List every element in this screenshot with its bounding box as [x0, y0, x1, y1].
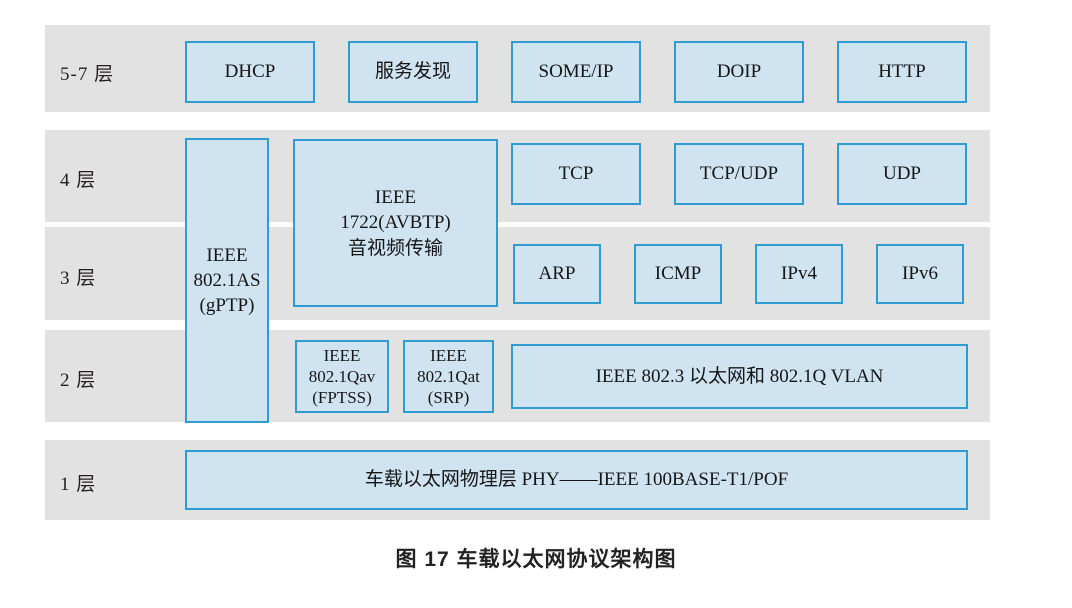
- layer-label-4: 4 层: [60, 165, 170, 192]
- protocol-box-gptp[interactable]: IEEE 802.1AS (gPTP): [185, 138, 269, 423]
- protocol-box-qav[interactable]: IEEE 802.1Qav (FPTSS): [295, 340, 389, 413]
- protocol-box-qav-label: IEEE 802.1Qav (FPTSS): [301, 345, 383, 409]
- protocol-box-qat[interactable]: IEEE 802.1Qat (SRP): [403, 340, 494, 413]
- protocol-box-avbtp[interactable]: IEEE 1722(AVBTP) 音视频传输: [293, 139, 498, 307]
- layer-label-1: 1 层: [60, 469, 170, 496]
- protocol-box-qat-label: IEEE 802.1Qat (SRP): [409, 345, 488, 409]
- protocol-box-service-discovery[interactable]: 服务发现: [348, 41, 478, 103]
- protocol-box-http-label: HTTP: [843, 59, 961, 84]
- protocol-stack-diagram: 5-7 层 4 层 3 层 2 层 1 层 DHCP 服务发现 SOME/IP …: [0, 0, 1072, 608]
- protocol-box-tcp-udp[interactable]: TCP/UDP: [674, 143, 804, 205]
- protocol-box-udp[interactable]: UDP: [837, 143, 967, 205]
- protocol-box-icmp-label: ICMP: [640, 261, 716, 286]
- protocol-box-dhcp-label: DHCP: [191, 59, 309, 84]
- protocol-box-ethernet-vlan[interactable]: IEEE 802.3 以太网和 802.1Q VLAN: [511, 344, 968, 409]
- protocol-box-dhcp[interactable]: DHCP: [185, 41, 315, 103]
- protocol-box-avbtp-label: IEEE 1722(AVBTP) 音视频传输: [299, 185, 492, 260]
- protocol-box-udp-label: UDP: [843, 161, 961, 186]
- protocol-box-some-ip[interactable]: SOME/IP: [511, 41, 641, 103]
- protocol-box-arp[interactable]: ARP: [513, 244, 601, 304]
- protocol-box-tcp-label: TCP: [517, 161, 635, 186]
- layer-label-5to7: 5-7 层: [60, 59, 170, 86]
- protocol-box-phy[interactable]: 车载以太网物理层 PHY——IEEE 100BASE-T1/POF: [185, 450, 968, 510]
- protocol-box-ipv6[interactable]: IPv6: [876, 244, 964, 304]
- protocol-box-phy-label: 车载以太网物理层 PHY——IEEE 100BASE-T1/POF: [191, 467, 962, 492]
- protocol-box-http[interactable]: HTTP: [837, 41, 967, 103]
- protocol-box-tcp[interactable]: TCP: [511, 143, 641, 205]
- protocol-box-service-discovery-label: 服务发现: [354, 59, 472, 84]
- protocol-box-some-ip-label: SOME/IP: [517, 59, 635, 84]
- protocol-box-ipv6-label: IPv6: [882, 261, 958, 286]
- protocol-box-ethernet-vlan-label: IEEE 802.3 以太网和 802.1Q VLAN: [517, 364, 962, 389]
- protocol-box-icmp[interactable]: ICMP: [634, 244, 722, 304]
- layer-label-3: 3 层: [60, 263, 170, 290]
- figure-caption: 图 17 车载以太网协议架构图: [0, 543, 1072, 573]
- protocol-box-doip[interactable]: DOIP: [674, 41, 804, 103]
- protocol-box-gptp-label: IEEE 802.1AS (gPTP): [191, 243, 263, 318]
- protocol-box-ipv4-label: IPv4: [761, 261, 837, 286]
- layer-label-2: 2 层: [60, 365, 170, 392]
- protocol-box-arp-label: ARP: [519, 261, 595, 286]
- protocol-box-tcp-udp-label: TCP/UDP: [680, 161, 798, 186]
- protocol-box-ipv4[interactable]: IPv4: [755, 244, 843, 304]
- protocol-box-doip-label: DOIP: [680, 59, 798, 84]
